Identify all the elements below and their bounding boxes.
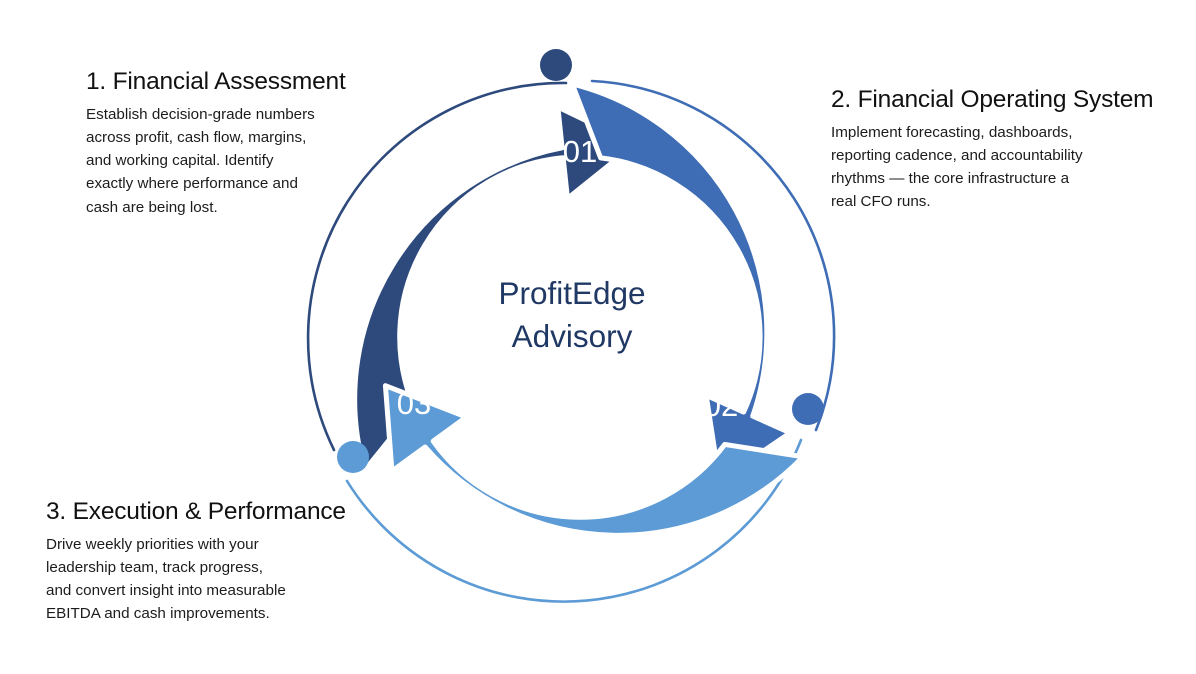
step-1-body: Establish decision-grade numbers across … bbox=[86, 103, 318, 218]
step-2-dot bbox=[792, 393, 824, 425]
step-2-body: Implement forecasting, dashboards, repor… bbox=[831, 121, 1083, 213]
step-1-title: 1. Financial Assessment bbox=[86, 68, 386, 96]
step-2-text-block: 2. Financial Operating System Implement … bbox=[831, 86, 1181, 214]
step-3-body: Drive weekly priorities with your leader… bbox=[46, 533, 286, 625]
step-1-text-block: 1. Financial Assessment Establish decisi… bbox=[86, 68, 386, 219]
step-2-title: 2. Financial Operating System bbox=[831, 86, 1181, 114]
step-1-dot bbox=[540, 49, 572, 81]
center-label-line2: Advisory bbox=[512, 318, 633, 354]
arrow-layer: 01 02 03 ProfitEdge Advisory bbox=[300, 40, 885, 660]
step-1-number: 01 bbox=[563, 134, 597, 169]
step-3-dot bbox=[337, 441, 369, 473]
step-3-number: 03 bbox=[397, 386, 431, 421]
center-label-line1: ProfitEdge bbox=[498, 275, 645, 311]
step-2-number: 02 bbox=[704, 388, 738, 423]
step-3-title: 3. Execution & Performance bbox=[46, 498, 386, 526]
step-3-text-block: 3. Execution & Performance Drive weekly … bbox=[46, 498, 386, 626]
